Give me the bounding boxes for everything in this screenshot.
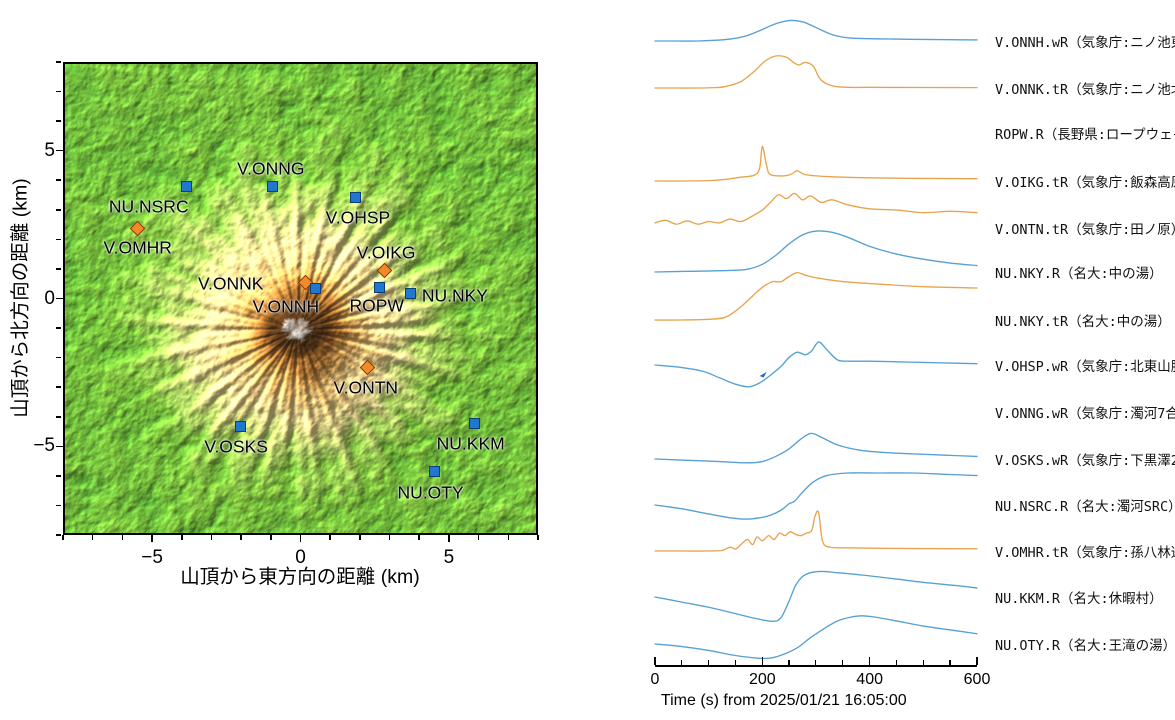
topographic-map: NU.NSRCV.ONNGV.OHSPV.OMHRV.OIKGV.ONNKV.O… — [63, 62, 538, 535]
map-x-tick — [359, 535, 361, 540]
time-axis-tick — [735, 660, 736, 665]
map-y-tick — [56, 268, 61, 270]
map-y-tick — [56, 534, 61, 536]
waveform-label: V.ONNK.tR（気象庁:ニノ池北） — [995, 78, 1175, 98]
time-axis-tick — [976, 657, 978, 665]
station-label: V.OSKS — [204, 437, 268, 458]
time-axis-tick-label: 0 — [651, 671, 660, 689]
station-label: V.ONNH — [253, 297, 319, 318]
map-y-tick — [56, 239, 61, 241]
time-axis-tick — [654, 657, 656, 665]
time-axis-tick — [869, 657, 871, 665]
map-x-tick — [270, 535, 272, 540]
waveform-trace — [655, 56, 977, 88]
waveform-trace — [655, 616, 977, 659]
square-marker-icon — [429, 466, 440, 477]
waveform-label: V.ONNH.wR（気象庁:ニノ池東） — [995, 31, 1175, 51]
time-axis-line — [655, 665, 977, 667]
map-y-tick — [56, 120, 61, 122]
waveform-trace — [655, 342, 977, 387]
map-y-tick — [56, 386, 61, 388]
map-x-tick — [508, 535, 510, 540]
station-label: V.ONNK — [198, 273, 264, 294]
square-marker-icon — [350, 192, 361, 203]
waveform-trace — [655, 231, 977, 272]
time-axis-tick-label: 200 — [749, 671, 776, 689]
map-y-tick-label: 0 — [29, 288, 55, 310]
map-y-axis-title: 山頂から北方向の距離 (km) — [4, 178, 33, 417]
map-x-tick — [537, 535, 539, 540]
waveform-label: V.ONNG.wR（気象庁:濁河7合目） — [995, 402, 1175, 422]
waveform-label: NU.KKM.R（名大:休暇村） — [995, 587, 1163, 607]
waveform-label: NU.NSRC.R（名大:濁河SRC） — [995, 495, 1175, 515]
station-label: V.ONTN — [334, 378, 399, 399]
square-marker-icon — [374, 282, 385, 293]
time-axis-tick — [923, 660, 924, 665]
time-axis-tick-label: 400 — [856, 671, 883, 689]
square-marker-icon — [181, 181, 192, 192]
waveform-label: V.OMHR.tR（気象庁:孫八林道） — [995, 541, 1175, 561]
station-label: V.OIKG — [357, 242, 416, 263]
waveform-label: NU.NKY.tR（名大:中の湯） — [995, 310, 1171, 330]
map-y-tick — [56, 416, 61, 418]
map-x-tick — [418, 535, 420, 540]
map-y-tick — [56, 61, 61, 63]
map-y-tick — [56, 91, 61, 93]
map-x-tick — [151, 535, 153, 542]
waveform-label: NU.NKY.R（名大:中の湯） — [995, 262, 1163, 282]
time-axis-tick — [681, 660, 682, 665]
time-axis-tick — [762, 657, 764, 665]
map-x-tick — [211, 535, 213, 540]
station-label: ROPW — [349, 296, 403, 317]
square-marker-icon — [469, 418, 480, 429]
map-y-tick — [56, 505, 61, 507]
time-axis-tick — [949, 660, 950, 665]
map-x-tick — [329, 535, 331, 540]
station-label: NU.NSRC — [109, 196, 189, 217]
waveform-trace — [655, 433, 977, 462]
square-marker-icon — [310, 283, 321, 294]
map-x-tick — [92, 535, 94, 540]
waveform-trace — [655, 511, 977, 551]
waveform-time-axis-title: Time (s) from 2025/01/21 16:05:00 — [661, 692, 907, 710]
waveform-panel: V.ONNH.wR（気象庁:ニノ池東）V.ONNK.tR（気象庁:ニノ池北）RO… — [620, 0, 1175, 720]
station-label: NU.NKY — [422, 286, 488, 307]
map-x-tick — [62, 535, 64, 540]
map-panel: NU.NSRCV.ONNGV.OHSPV.OMHRV.OIKGV.ONNKV.O… — [0, 0, 620, 720]
station-label: V.OHSP — [326, 208, 391, 229]
square-marker-icon — [267, 181, 278, 192]
map-y-tick-label: 5 — [29, 140, 55, 162]
map-x-tick — [300, 535, 302, 542]
waveform-label: V.ONTN.tR（気象庁:田ノ原） — [995, 218, 1175, 238]
waveform-trace — [655, 146, 977, 181]
waveform-label: V.OHSP.wR（気象庁:北東山腹） — [995, 355, 1175, 375]
station-label: V.ONNG — [237, 158, 304, 179]
map-y-tick — [56, 357, 61, 359]
waveform-label: ROPW.R（長野県:ロープウェイ） — [995, 123, 1175, 143]
station-label: NU.OTY — [398, 482, 464, 503]
time-axis-tick — [708, 660, 709, 665]
map-y-tick — [56, 150, 63, 152]
station-label: NU.KKM — [437, 434, 505, 455]
map-y-tick — [56, 327, 61, 329]
time-axis-tick — [842, 660, 843, 665]
map-x-tick-label: 5 — [444, 547, 455, 569]
map-y-tick — [56, 298, 63, 300]
map-y-tick — [56, 446, 63, 448]
station-label: V.OMHR — [104, 238, 172, 259]
onset-arrow-icon — [760, 372, 767, 378]
waveform-label: V.OIKG.tR（気象庁:飯森高原） — [995, 171, 1175, 191]
map-x-tick — [122, 535, 124, 540]
waveform-trace — [655, 273, 977, 320]
time-axis-tick — [815, 660, 816, 665]
map-x-tick — [478, 535, 480, 540]
waveform-trace — [655, 571, 977, 621]
map-y-tick — [56, 475, 61, 477]
map-x-tick — [389, 535, 391, 540]
waveform-trace — [655, 20, 977, 41]
map-x-tick — [240, 535, 242, 540]
map-y-tick — [56, 209, 61, 211]
time-axis-tick — [896, 660, 897, 665]
map-x-axis-title: 山頂から東方向の距離 (km) — [180, 560, 419, 589]
map-x-tick-label: −5 — [141, 547, 163, 569]
map-y-tick — [56, 179, 61, 181]
square-marker-icon — [405, 288, 416, 299]
square-marker-icon — [235, 421, 246, 432]
time-axis-tick-label: 600 — [964, 671, 991, 689]
waveform-label: V.OSKS.wR（気象庁:下黒澤2） — [995, 449, 1175, 469]
map-x-tick — [181, 535, 183, 540]
map-y-tick-label: −5 — [29, 435, 55, 457]
map-x-tick — [448, 535, 450, 542]
waveform-trace — [655, 193, 977, 224]
waveform-label: NU.OTY.R（名大:王滝の湯） — [995, 634, 1175, 654]
time-axis-tick — [788, 660, 789, 665]
